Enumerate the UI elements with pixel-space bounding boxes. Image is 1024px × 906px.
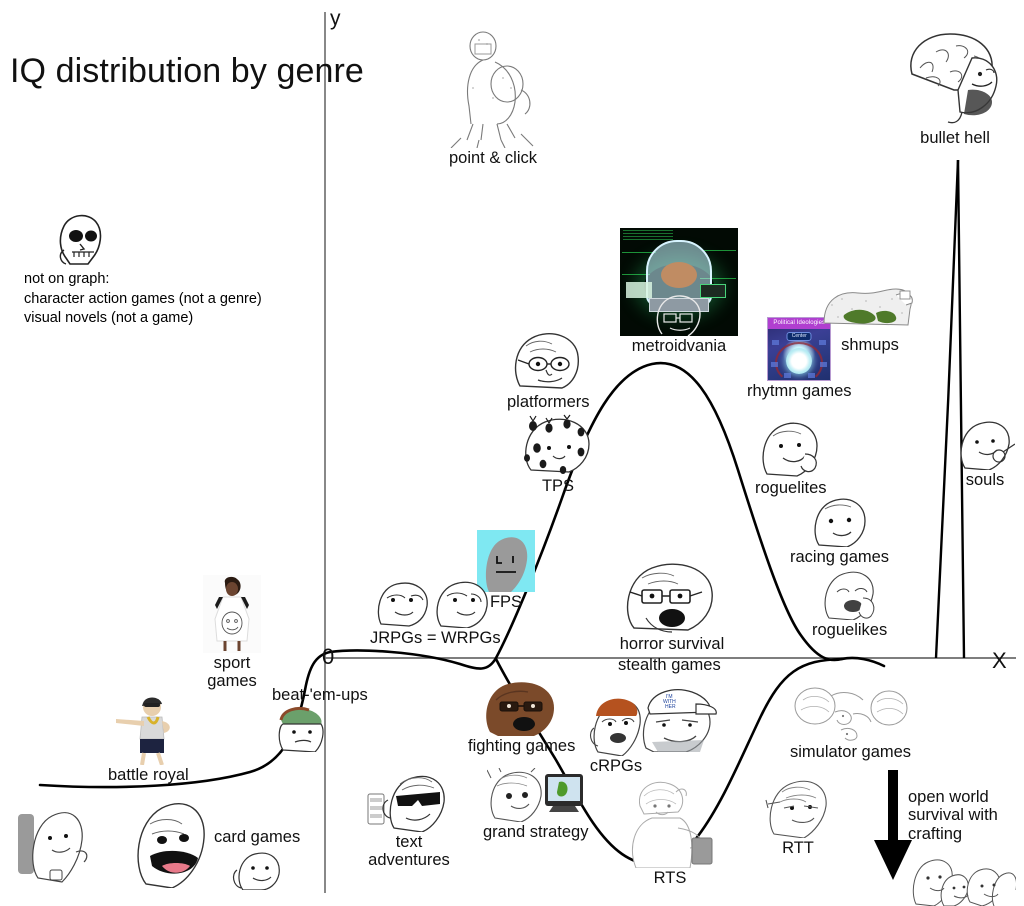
genre-label: RTS	[654, 869, 687, 887]
genre-rtt: RTT	[762, 776, 834, 857]
note-line-2: character action games (not a genre)	[24, 290, 262, 310]
genre-label: TPS	[542, 477, 574, 495]
genre-souls: souls	[955, 420, 1015, 489]
party-games-wojak-icon	[18, 788, 90, 884]
mv-beam	[704, 250, 736, 251]
genre-label: souls	[966, 471, 1005, 489]
svg-text:HER: HER	[665, 704, 676, 710]
genre-racing-games: racing games	[790, 495, 889, 566]
genre-text-adventures: text adventures	[366, 770, 452, 870]
pc-node	[820, 362, 827, 367]
pc-center-chip: Center	[787, 332, 812, 341]
mv-code-texture	[623, 230, 673, 240]
genre-grand-strategy: grand strategy	[483, 768, 588, 841]
genre-label: racing games	[790, 548, 889, 566]
genre-fighting-games: fighting games	[468, 678, 575, 755]
genre-label: stealth games	[618, 656, 721, 674]
open-world-survival-crowd-icon	[908, 844, 1016, 906]
genre-label: platformers	[507, 393, 590, 411]
genre-label: bullet hell	[920, 129, 990, 147]
genre-label: simulator games	[790, 743, 911, 761]
x-axis-label: X	[992, 650, 1007, 672]
stealth-games-cap-chad-icon: I'M WITH HER	[638, 682, 718, 752]
rts-seated-wojak-icon	[620, 776, 720, 868]
mmorpgs-bandana-wojak-icon	[273, 706, 331, 752]
pc-core	[786, 348, 812, 374]
genre-label: fighting games	[468, 737, 575, 755]
genre-open-world-survival: open world survival with crafting	[908, 788, 1016, 906]
genre-label: sport games	[207, 654, 257, 691]
pc-header-text: Political Ideologies	[768, 318, 830, 329]
genre-point-and-click: point & click	[443, 28, 543, 167]
genre-label: battle royal	[108, 766, 189, 784]
fighting-games-gigachad-wojak-icon	[478, 678, 566, 736]
genre-shmups: shmups	[822, 283, 918, 354]
genre-rts: RTS	[620, 776, 720, 887]
genre-bullet-hell: bullet hell	[902, 28, 1008, 147]
genre-label: card games	[214, 828, 300, 846]
rtt-brain-wojak-icon	[762, 776, 834, 838]
genre-label: grand strategy	[483, 823, 588, 841]
genre-label: shmups	[841, 336, 899, 354]
genre-label: rhytmn games	[747, 382, 852, 400]
bullet-hell-spike-left	[936, 160, 958, 658]
genre-stealth-games: stealth games	[618, 656, 721, 674]
genre-card-games: card games	[214, 827, 300, 890]
genre-beat-em-ups: beat-'em-ups	[272, 686, 368, 704]
crpgs-ginger-soyjak-icon	[588, 694, 644, 756]
pc-node	[808, 373, 815, 378]
platformers-glasses-wojak-icon	[510, 330, 586, 392]
genre-party-games	[18, 788, 90, 884]
genre-roguelikes: roguelikes	[812, 568, 887, 639]
genre-label: metroidvania	[632, 337, 726, 355]
genre-mobas	[128, 796, 212, 888]
genre-label: roguelikes	[812, 621, 887, 639]
mv-brain	[661, 262, 697, 288]
chart-canvas: y X 0 IQ distribution by genre not on gr…	[0, 0, 1024, 893]
y-axis-label: y	[330, 8, 341, 29]
bullet-hell-brainlet-icon	[902, 28, 1008, 128]
racing-games-wojak-icon	[809, 495, 871, 547]
not-on-graph-note: not on graph: character action games (no…	[24, 270, 262, 329]
skull-wojak-icon	[54, 210, 106, 266]
genre-platformers: platformers	[507, 330, 590, 411]
genre-simulator-games: simulator games	[790, 686, 911, 761]
genre-label: open world survival with crafting	[908, 788, 998, 843]
genre-label: cRPGs	[590, 757, 642, 775]
bullet-hell-spike-right	[958, 160, 964, 658]
roguelikes-crying-wojak-icon	[819, 568, 881, 620]
genre-label: beat-'em-ups	[272, 686, 368, 704]
genre-sport-games: sport games	[203, 575, 261, 691]
genre-label: JRPGs = WRPGs	[370, 629, 501, 647]
genre-label: horror survival	[620, 635, 725, 653]
genre-roguelites: roguelites	[755, 420, 827, 497]
point-and-click-icon	[443, 28, 543, 148]
genre-label: text adventures	[368, 833, 450, 870]
pc-node	[784, 373, 791, 378]
mv-screen-left	[626, 282, 652, 298]
genre-tps: TPS	[519, 414, 597, 495]
genre-label: RTT	[782, 839, 814, 857]
genre-stealth-games-art: I'M WITH HER	[638, 682, 718, 752]
battle-royal-dance-photo	[108, 695, 188, 765]
genre-label: point & click	[449, 149, 537, 167]
shmups-lying-wojak-icon	[822, 283, 918, 335]
mobas-brainlet-icon	[128, 796, 212, 888]
simulator-games-brainlets-icon	[791, 686, 911, 742]
not-on-graph-icon-wrap	[54, 210, 106, 266]
genre-battle-royal: battle royal	[108, 695, 189, 784]
grand-strategy-tv-wojak-icon	[487, 768, 585, 822]
genre-jrpgs-wrpgs: JRPGs = WRPGs	[370, 578, 501, 647]
genre-crpgs: cRPGs	[588, 694, 644, 775]
roguelites-smug-wojak-icon	[757, 420, 825, 478]
sport-games-dress-photo	[203, 575, 261, 653]
note-line-3: visual novels (not a game)	[24, 309, 262, 329]
genre-metroidvania: metroidvania	[620, 228, 738, 355]
tps-bug-covered-wojak-icon	[519, 414, 597, 476]
text-adventures-sunglasses-wojak-icon	[366, 770, 452, 832]
horror-survival-screaming-wojak-icon	[618, 558, 726, 634]
jrpgs-wrpgs-soyjak-pair-icon	[375, 578, 495, 628]
page-title: IQ distribution by genre	[10, 52, 364, 91]
note-line-1: not on graph:	[24, 270, 262, 290]
souls-wojak-icon	[955, 420, 1015, 470]
genre-mmorpgs	[273, 706, 331, 752]
metroidvania-brain-jar-image	[620, 228, 738, 336]
genre-horror-survival: horror survival	[618, 558, 726, 653]
card-games-wojak-icon	[229, 846, 285, 890]
pc-node	[771, 362, 778, 367]
mv-screen-right	[700, 284, 726, 298]
pc-node	[772, 340, 779, 345]
origin-label: 0	[322, 646, 334, 668]
